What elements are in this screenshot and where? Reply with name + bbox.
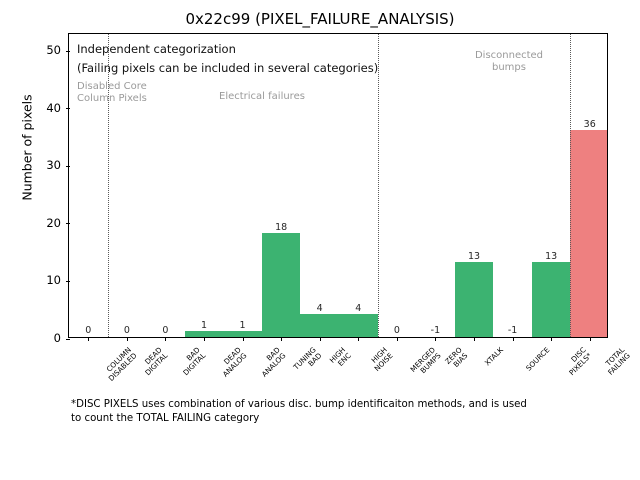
x-tick-mark: [397, 337, 398, 341]
x-tick-mark: [435, 337, 436, 341]
footnote-line-2: to count the TOTAL FAILING category: [71, 412, 631, 426]
bar-value-label: 4: [300, 303, 339, 314]
bar-value-label: 0: [146, 325, 185, 336]
bar-value-label: -1: [493, 325, 532, 336]
x-tick-label: TUNING BAD: [292, 346, 323, 377]
y-tick-mark: [66, 281, 70, 282]
y-tick-label: 30: [33, 158, 61, 172]
x-tick-mark: [590, 337, 591, 341]
group-annotation: Disabled Core Column Pixels: [77, 81, 147, 105]
y-tick-mark: [66, 108, 70, 109]
x-tick-mark: [243, 337, 244, 341]
x-tick-label: COLUMN DISABLED: [102, 346, 139, 383]
x-tick-mark: [127, 337, 128, 341]
footnote: *DISC PIXELS uses combination of various…: [71, 398, 631, 427]
plot-inner: 0001118440-113-11336Independent categori…: [69, 34, 607, 337]
x-tick-mark: [358, 337, 359, 341]
x-tick-label: HIGH NOISE: [368, 346, 395, 373]
bar-value-label: 0: [69, 325, 108, 336]
y-tick-label: 20: [33, 216, 61, 230]
y-tick-label: 50: [33, 43, 61, 57]
y-tick-mark: [66, 166, 70, 167]
figure-canvas: 0x22c99 (PIXEL_FAILURE_ANALYSIS) Number …: [0, 0, 640, 480]
group-annotation: Electrical failures: [219, 91, 305, 103]
bar-value-label: 18: [262, 222, 301, 233]
bar-value-label: 0: [108, 325, 147, 336]
bar-value-label: 13: [532, 251, 571, 262]
bar: [455, 262, 494, 337]
bar: [262, 233, 301, 337]
y-tick-mark: [66, 339, 70, 340]
x-tick-label: MERGED BUMPS: [409, 346, 443, 380]
x-tick-label: DEAD ANALOG: [216, 346, 249, 379]
footnote-line-1: *DISC PIXELS uses combination of various…: [71, 398, 631, 412]
category-divider: [378, 34, 379, 337]
y-tick-mark: [66, 223, 70, 224]
bar-value-label: 0: [378, 325, 417, 336]
bar: [570, 130, 607, 337]
category-divider: [108, 34, 109, 337]
y-tick-label: 0: [33, 331, 61, 345]
y-tick-label: 40: [33, 101, 61, 115]
x-tick-label: BAD ANALOG: [254, 346, 287, 379]
annotation-independent-categorization: Independent categorization: [77, 42, 236, 56]
bar-value-label: 1: [223, 320, 262, 331]
x-tick-label: HIGH ENC: [328, 346, 352, 370]
annotation-several-categories: (Failing pixels can be included in sever…: [77, 61, 378, 75]
x-tick-label: XTALK: [484, 346, 505, 367]
x-tick-mark: [281, 337, 282, 341]
category-divider: [570, 34, 571, 337]
bar-value-label: 1: [185, 320, 224, 331]
bar-value-label: 13: [455, 251, 494, 262]
plot-area: 0001118440-113-11336Independent categori…: [68, 33, 608, 338]
x-tick-label: ZERO BIAS: [444, 346, 470, 372]
bar-value-label: 4: [339, 303, 378, 314]
x-tick-mark: [165, 337, 166, 341]
bar: [339, 314, 378, 337]
x-tick-mark: [474, 337, 475, 341]
x-tick-mark: [320, 337, 321, 341]
x-tick-label: DEAD DIGITAL: [138, 346, 169, 377]
y-tick-label: 10: [33, 273, 61, 287]
x-tick-mark: [88, 337, 89, 341]
x-tick-label: TOTAL FAILING: [601, 346, 632, 377]
group-annotation: Disconnected bumps: [464, 50, 554, 74]
page-title: 0x22c99 (PIXEL_FAILURE_ANALYSIS): [0, 10, 640, 28]
bar-value-label: 36: [570, 119, 607, 130]
x-tick-label: SOURCE: [524, 346, 551, 373]
x-tick-label: BAD DIGITAL: [177, 346, 208, 377]
bar: [300, 314, 339, 337]
y-tick-mark: [66, 51, 70, 52]
bar: [532, 262, 571, 337]
x-tick-label: DISC PIXELS*: [562, 346, 593, 377]
x-tick-mark: [204, 337, 205, 341]
bar-value-label: -1: [416, 325, 455, 336]
x-tick-mark: [551, 337, 552, 341]
x-tick-mark: [513, 337, 514, 341]
